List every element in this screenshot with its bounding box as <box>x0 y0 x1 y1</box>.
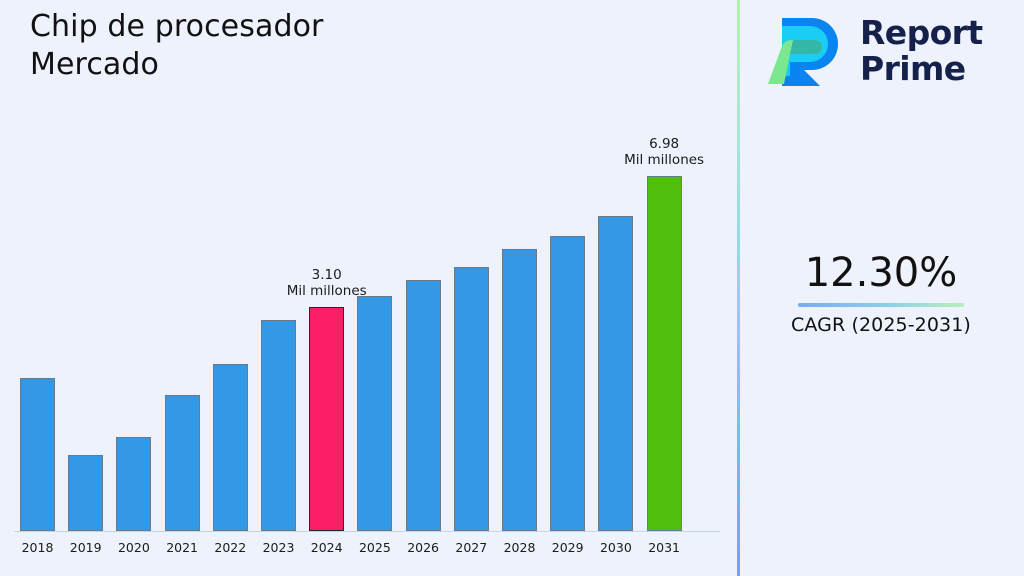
bar-2026[interactable] <box>406 280 441 531</box>
bar-2022[interactable] <box>213 364 248 531</box>
bar-2018[interactable] <box>20 378 55 531</box>
chart-page: Chip de procesador Mercado 2018201920202… <box>0 0 1024 576</box>
bar-2021[interactable] <box>165 395 200 531</box>
bar-2027[interactable] <box>454 267 489 531</box>
bar-2020[interactable] <box>116 437 151 531</box>
x-axis-line <box>14 531 720 532</box>
info-panel: Report Prime 12.30% CAGR (2025-2031) <box>738 0 1024 576</box>
brand-logo-text: Report Prime <box>860 15 983 86</box>
bar-2028[interactable] <box>502 249 537 531</box>
cagr-divider-rule <box>798 303 964 307</box>
bar-2019[interactable] <box>68 455 103 531</box>
cagr-block: 12.30% CAGR (2025-2031) <box>738 252 1024 336</box>
bar-chart-plot: 20182019202020212022202320243.10 Mil mil… <box>0 0 738 576</box>
bar-2031[interactable] <box>647 176 682 531</box>
cagr-value: 12.30% <box>738 252 1024 294</box>
report-prime-mark-icon <box>760 12 846 90</box>
bar-2023[interactable] <box>261 320 296 531</box>
bar-2024[interactable] <box>309 307 344 531</box>
bar-2030[interactable] <box>598 216 633 531</box>
bar-value-label-2024: 3.10 Mil millones <box>267 267 387 299</box>
x-tick-label-2031: 2031 <box>635 540 694 555</box>
cagr-label: CAGR (2025-2031) <box>738 314 1024 336</box>
bar-2025[interactable] <box>357 296 392 531</box>
chart-panel: Chip de procesador Mercado 2018201920202… <box>0 0 738 576</box>
bar-value-label-2031: 6.98 Mil millones <box>604 136 724 168</box>
brand-logo: Report Prime <box>760 12 983 90</box>
bar-2029[interactable] <box>550 236 585 531</box>
